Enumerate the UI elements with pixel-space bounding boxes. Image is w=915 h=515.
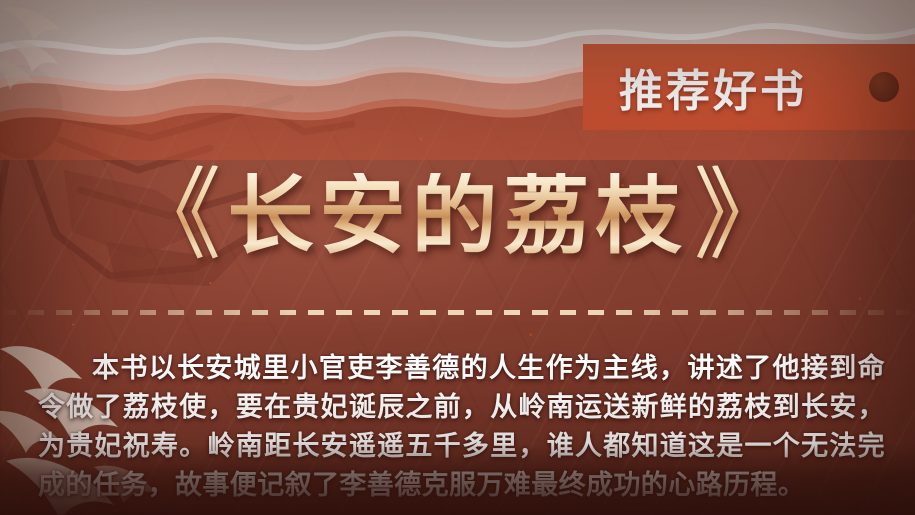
bracket-right-icon: 》 (694, 166, 790, 267)
book-title: 长安的荔枝 (228, 173, 688, 259)
book-title-row: 《 长安的荔枝 》 (0, 160, 915, 272)
bracket-left-icon: 《 (126, 166, 222, 267)
dashed-divider (0, 310, 915, 315)
slide-canvas: 推荐好书 《 长安的荔枝 》 本书以长安城里小官吏李善德的人生作为主线，讲述了他… (0, 0, 915, 515)
bottom-vignette (0, 443, 915, 515)
header-label: 推荐好书 (619, 55, 807, 119)
circle-ornament-icon (869, 72, 899, 102)
header-banner: 推荐好书 (583, 44, 915, 130)
